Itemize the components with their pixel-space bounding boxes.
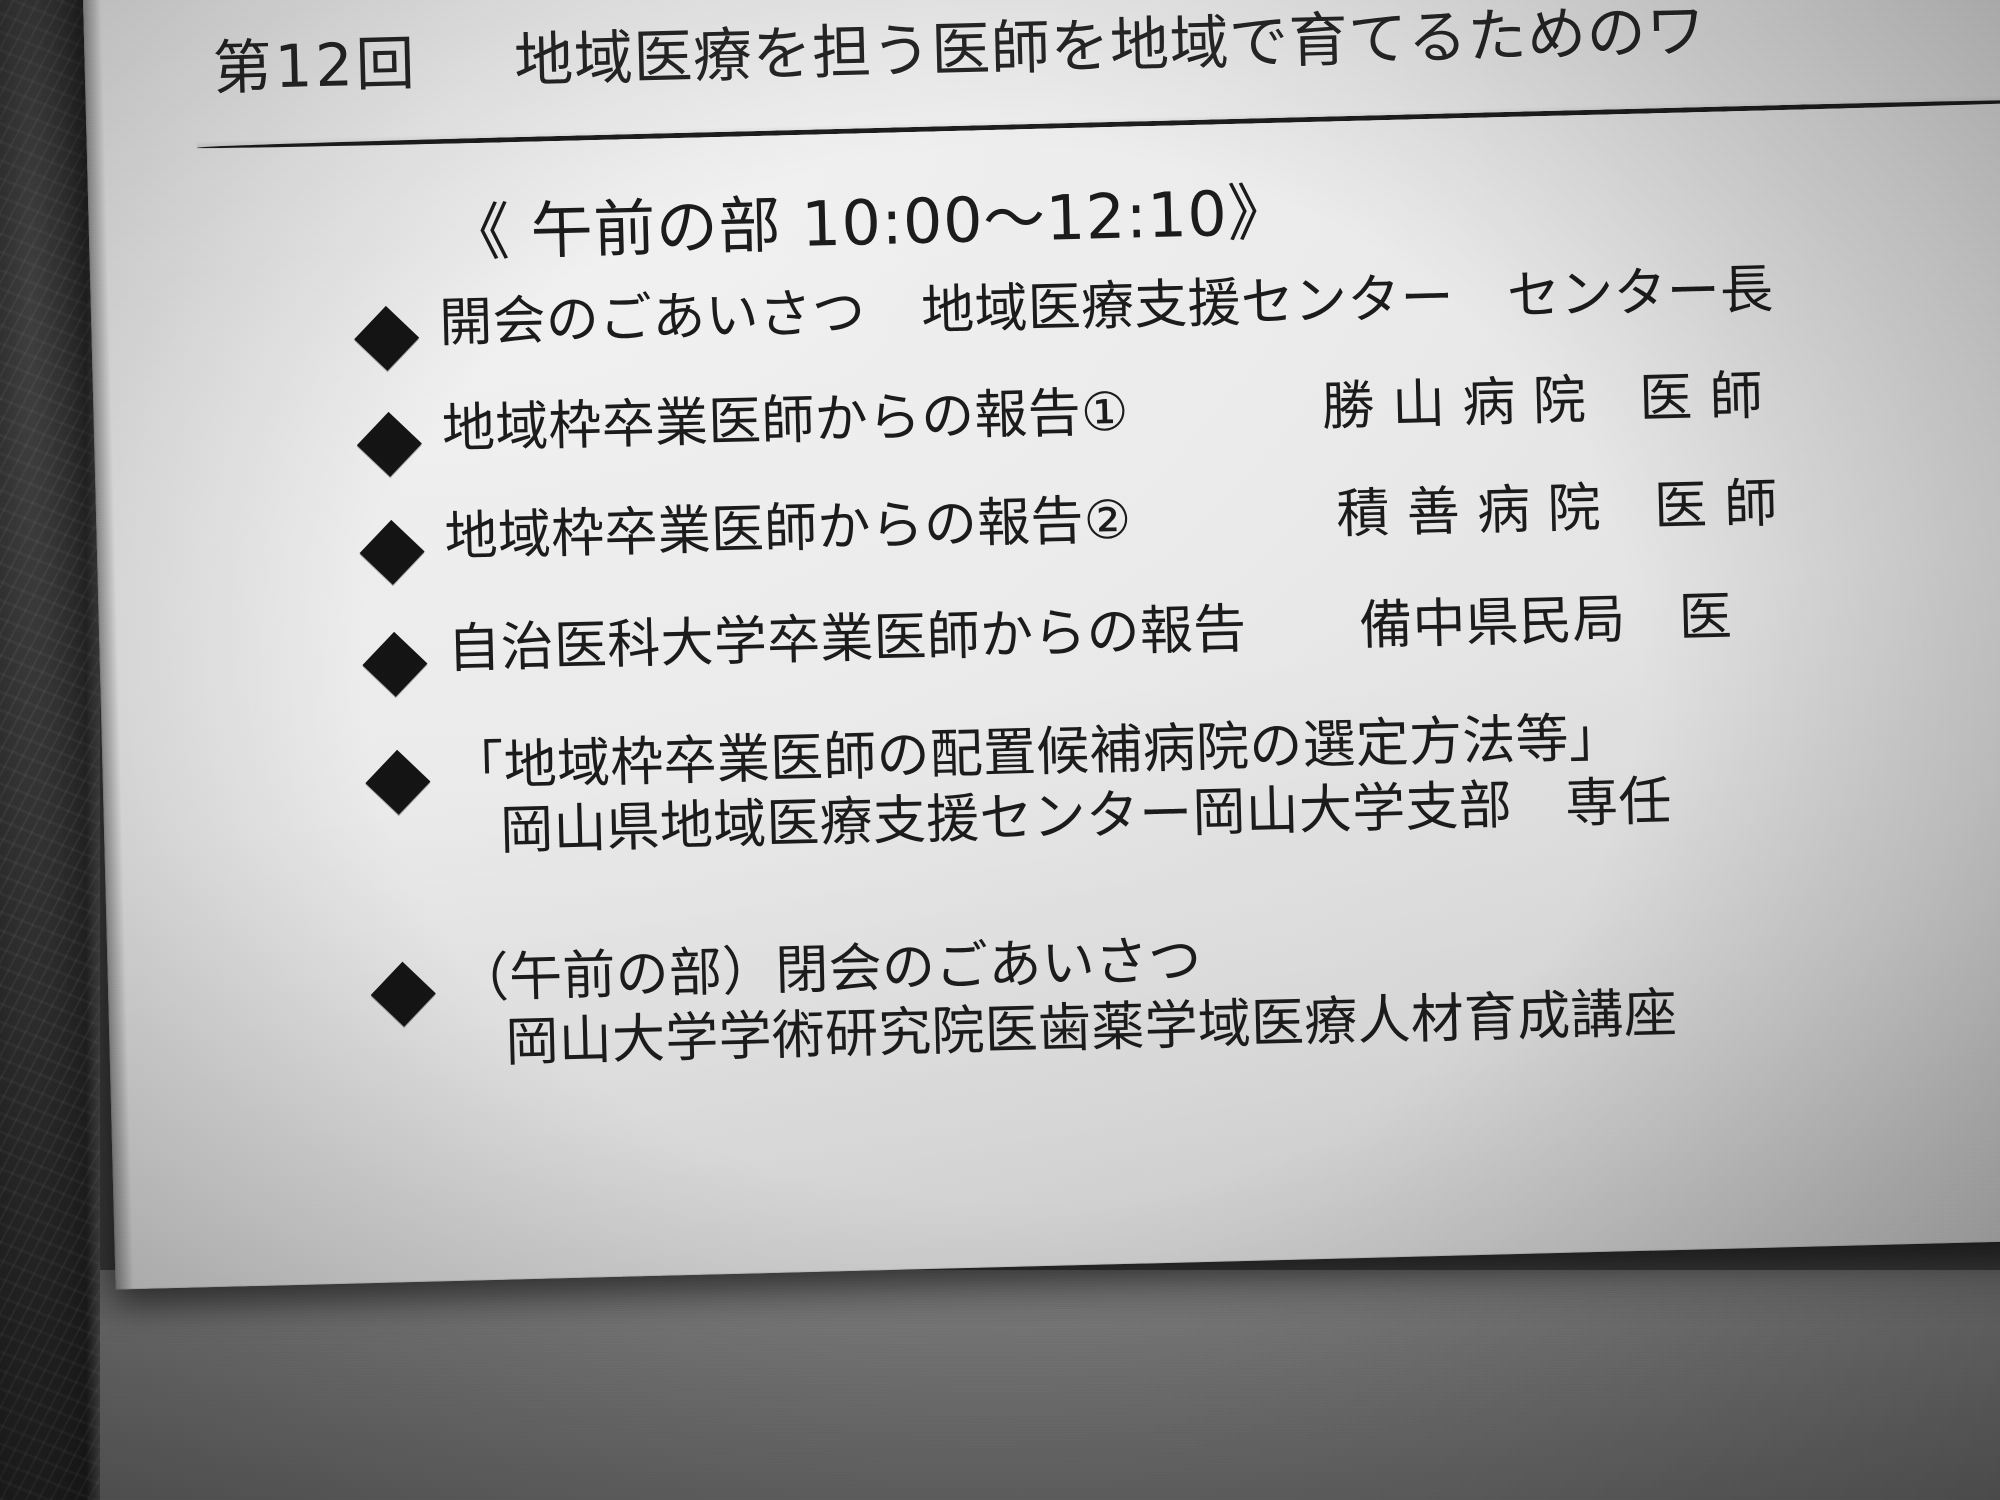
- program-item-text: 自治医科大学卒業医師からの報告 備中県民局 医: [447, 602, 1247, 677]
- program-item-affiliation: 地域医療支援センター センター長: [921, 259, 1775, 342]
- diamond-bullet-icon: [362, 632, 427, 697]
- poster-title: 第12回 地域医療を担う医師を地域で育てるためのワ: [212, 0, 2000, 98]
- title-main-text: 地域医療を担う医師を地域で育てるためのワ: [513, 0, 1706, 95]
- program-item-affiliation: 備中県民局 医: [1359, 589, 1733, 654]
- program-item: （午前の部）閉会のごあいさつ 岡山大学学術研究院医歯薬学域医療人材育成講座: [107, 910, 2000, 1081]
- program-item-text: 地域枠卒業医師からの報告① 勝 山 病 院 医 師: [441, 385, 1129, 457]
- program-item: 地域枠卒業医師からの報告① 勝 山 病 院 医 師: [93, 360, 2000, 475]
- text-spacer: [866, 329, 922, 330]
- photo-scene: 第12回 地域医療を担う医師を地域で育てるためのワ 《 午前の部 10:00～1…: [0, 0, 2000, 1500]
- program-item-affiliation: 積 善 病 院 医 師: [1336, 476, 1779, 542]
- diamond-bullet-icon: [360, 520, 425, 585]
- program-item: 自治医科大学卒業医師からの報告 備中県民局 医: [99, 580, 2000, 695]
- program-item-text: 開会のごあいさつ地域医療支援センター センター長: [439, 262, 1774, 351]
- program-item-text: （午前の部）閉会のごあいさつ 岡山大学学術研究院医歯薬学域医療人材育成講座: [455, 921, 1677, 1072]
- diamond-bullet-icon: [357, 412, 422, 477]
- diamond-bullet-icon: [354, 306, 419, 371]
- program-item-affiliation: 勝 山 病 院 医 師: [1321, 369, 1764, 435]
- program-item-title: 開会のごあいさつ: [439, 282, 867, 354]
- program-item: 地域枠卒業医師からの報告② 積 善 病 院 医 師: [96, 468, 2000, 583]
- program-item-text: 「地域枠卒業医師の配置候補病院の選定方法等」 岡山県地域医療支援センター岡山大学…: [450, 709, 1672, 860]
- diamond-bullet-icon: [371, 962, 436, 1027]
- wall-below-board: [70, 1270, 2000, 1500]
- program-item-title: 地域枠卒業医師からの報告①: [441, 382, 1129, 460]
- program-item-title: 地域枠卒業医師からの報告②: [444, 490, 1132, 568]
- title-edition-number: 第12回: [212, 29, 419, 103]
- session-header: 《 午前の部 10:00～12:10》: [88, 152, 1650, 281]
- program-item-title: 自治医科大学卒業医師からの報告: [447, 599, 1247, 680]
- program-list: 開会のごあいさつ地域医療支援センター センター長 地域枠卒業医師からの報告① 勝…: [91, 254, 2000, 1081]
- textured-dark-wall: [0, 0, 100, 1500]
- program-item-text: 地域枠卒業医師からの報告② 積 善 病 院 医 師: [444, 493, 1132, 565]
- board-content: 第12回 地域医療を担う医師を地域で育てるためのワ 《 午前の部 10:00～1…: [82, 0, 2000, 1290]
- title-spacer: [437, 82, 495, 83]
- presentation-board: 第12回 地域医療を担う医師を地域で育てるためのワ 《 午前の部 10:00～1…: [82, 0, 2000, 1290]
- diamond-bullet-icon: [365, 750, 430, 815]
- program-item: 「地域枠卒業医師の配置候補病院の選定方法等」 岡山県地域医療支援センター岡山大学…: [102, 698, 2000, 869]
